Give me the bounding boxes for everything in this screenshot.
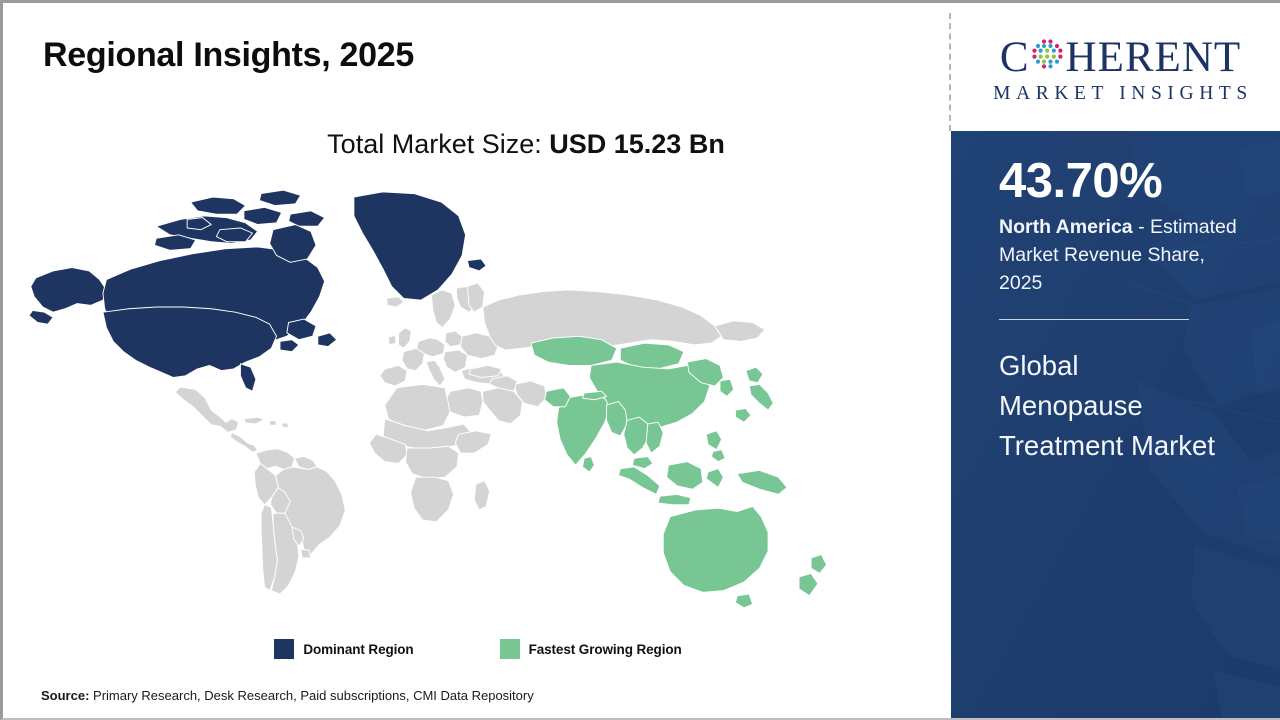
square-swatch-navy-icon <box>274 639 294 659</box>
market-name: Global Menopause Treatment Market <box>999 346 1229 467</box>
legend-label-fastest-growing: Fastest Growing Region <box>529 642 682 657</box>
vertical-dashed-divider <box>949 13 951 131</box>
page-title: Regional Insights, 2025 <box>43 36 414 75</box>
world-map <box>27 185 887 625</box>
sidebar-content: 43.70% North America - Estimated Market … <box>951 131 1280 467</box>
market-share-caption: North America - Estimated Market Revenue… <box>999 214 1243 298</box>
legend-item-dominant: Dominant Region <box>274 639 413 659</box>
source-label: Source: <box>41 688 89 703</box>
map-legend: Dominant Region Fastest Growing Region <box>3 639 949 659</box>
market-size-label: Total Market Size: <box>327 129 549 159</box>
square-swatch-green-icon <box>500 639 520 659</box>
stats-sidebar: 43.70% North America - Estimated Market … <box>951 131 1280 720</box>
total-market-size: Total Market Size: USD 15.23 Bn <box>3 129 949 160</box>
legend-item-fastest-growing: Fastest Growing Region <box>500 639 682 659</box>
logo-wordmark-rest: HERENT <box>1066 36 1242 79</box>
market-size-value: USD 15.23 Bn <box>549 129 725 159</box>
coherent-market-insights-logo: C <box>958 3 1280 131</box>
market-share-percentage: 43.70% <box>999 156 1243 207</box>
regional-insights-infographic: Regional Insights, 2025 Total Market Siz… <box>0 0 1280 720</box>
source-line: Source: Primary Research, Desk Research,… <box>41 688 534 703</box>
dotted-globe-icon <box>1031 36 1065 79</box>
logo-letter-c: C <box>1000 36 1030 79</box>
sidebar-divider-rule <box>999 319 1189 320</box>
legend-label-dominant: Dominant Region <box>303 642 413 657</box>
left-content-panel: Regional Insights, 2025 Total Market Siz… <box>3 3 949 720</box>
source-text: Primary Research, Desk Research, Paid su… <box>89 688 533 703</box>
logo-subtitle: MARKET INSIGHTS <box>988 83 1253 105</box>
dominant-region-name: North America <box>999 216 1133 238</box>
map-region-asia-pacific <box>531 336 827 608</box>
logo-wordmark: C <box>1000 36 1241 79</box>
